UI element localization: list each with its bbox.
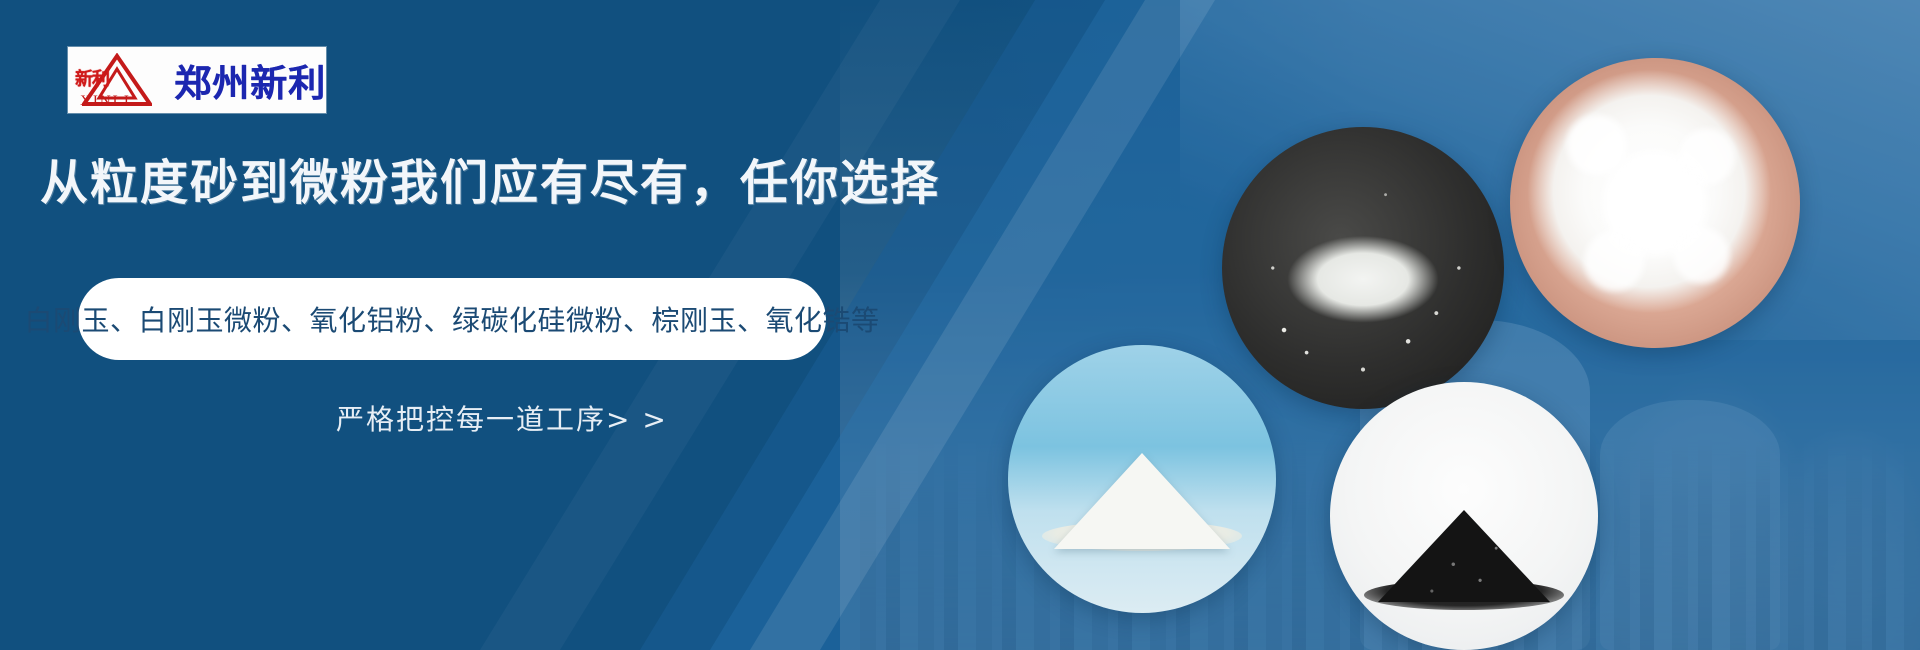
cta-link[interactable]: 严格把控每一道工序> > [336, 398, 668, 438]
logo-triangle-mark: 新利 XINLI [76, 49, 158, 111]
product-list-pill: 白刚玉、白刚玉微粉、氧化铝粉、绿碳化硅微粉、棕刚玉、氧化锆等 [78, 278, 826, 360]
logo-mark-chinese: 新利 [75, 71, 109, 89]
company-logo[interactable]: 新利 XINLI 郑州新利 [68, 47, 326, 113]
promo-banner: 新利 XINLI 郑州新利 从粒度砂到微粉我们应有尽有，任你选择 白刚玉、白刚玉… [0, 0, 1920, 650]
grit-sparkle-texture [1330, 382, 1598, 650]
product-image-white-grit-on-dark-dish [1222, 127, 1504, 409]
product-image-white-powder-on-pink-dish [1510, 58, 1800, 348]
product-image-white-powder-cone-blue [1008, 345, 1276, 613]
powder-texture [1510, 58, 1800, 348]
logo-company-name: 郑州新利 [174, 53, 326, 107]
product-image-black-grit-cone-white [1330, 382, 1598, 650]
powder-cone [1054, 453, 1230, 549]
grit-speckle-texture [1222, 127, 1504, 409]
logo-mark-pinyin: XINLI [80, 94, 131, 109]
banner-headline: 从粒度砂到微粉我们应有尽有，任你选择 [40, 143, 940, 213]
product-list-text: 白刚玉、白刚玉微粉、氧化铝粉、绿碳化硅微粉、棕刚玉、氧化锆等 [25, 299, 880, 339]
